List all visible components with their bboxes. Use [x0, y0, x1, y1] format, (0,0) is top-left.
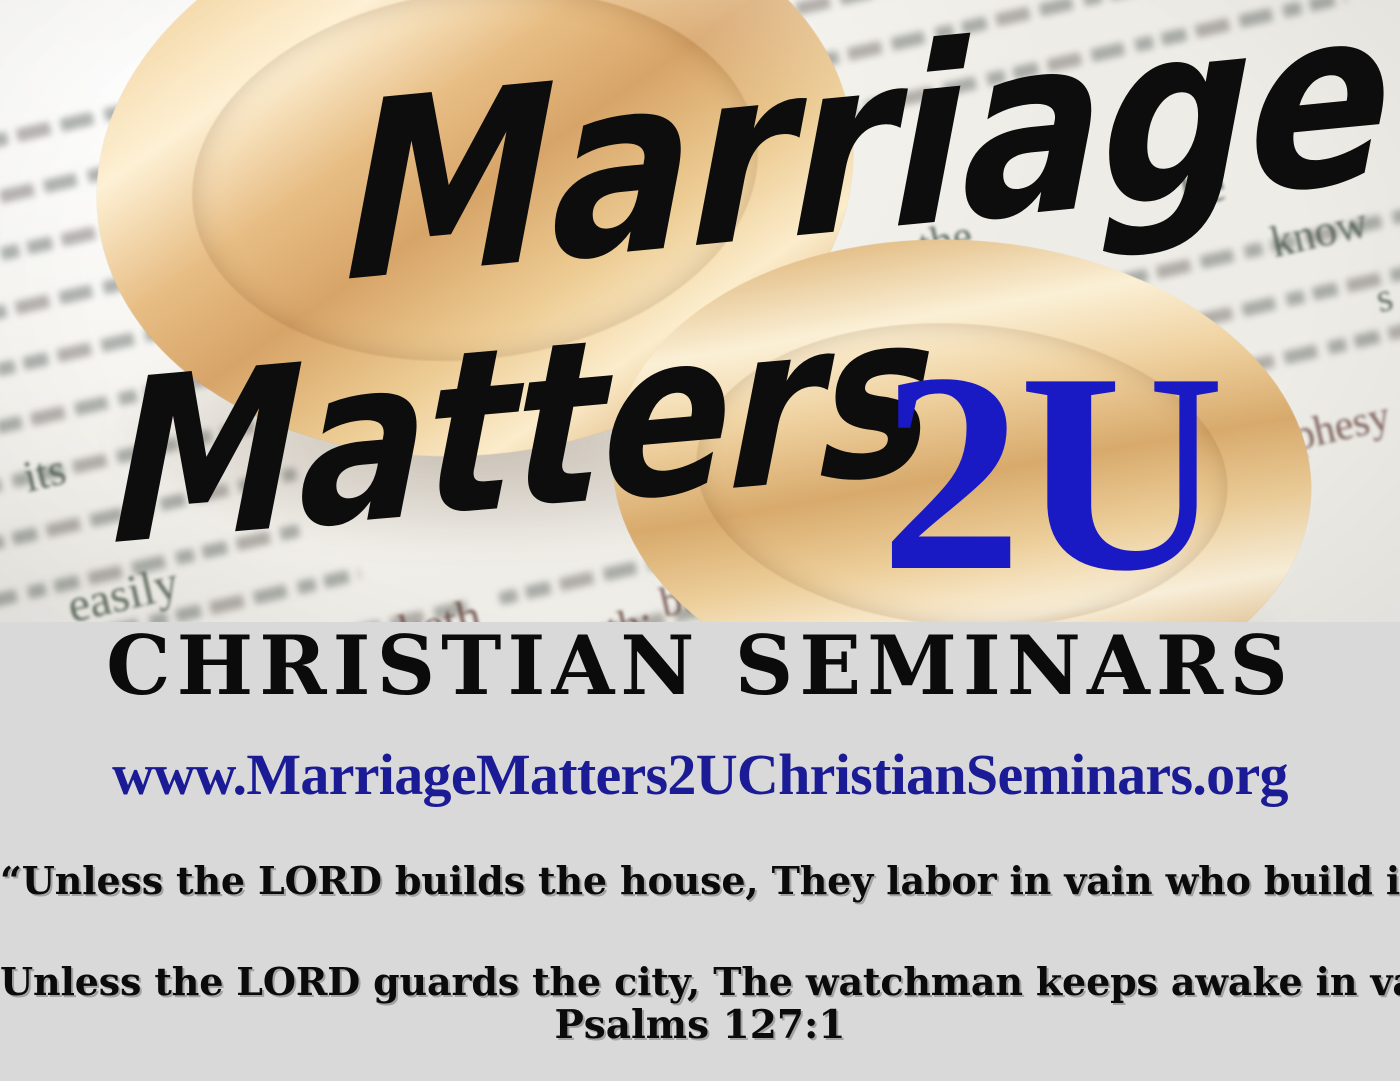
marriage-matters-2u-poster: its easily not thinketh endureth eth: bu…	[0, 0, 1400, 1081]
headline-christian-seminars: CHRISTIAN SEMINARS	[0, 626, 1400, 707]
script-headline-matters: Matters	[110, 280, 936, 577]
verse-reference: Psalms 127:1	[0, 1006, 1400, 1045]
scripture-verse: “Unless the LORD builds the house, They …	[0, 862, 1400, 1001]
verse-line-2: Unless the LORD guards the city, The wat…	[0, 963, 1400, 1001]
website-url[interactable]: www.MarriageMatters2UChristianSeminars.o…	[0, 746, 1400, 804]
brand-suffix-2u: 2U	[880, 330, 1221, 615]
hero-photo: its easily not thinketh endureth eth: bu…	[0, 0, 1400, 622]
verse-line-1: “Unless the LORD builds the house, They …	[0, 862, 1400, 900]
